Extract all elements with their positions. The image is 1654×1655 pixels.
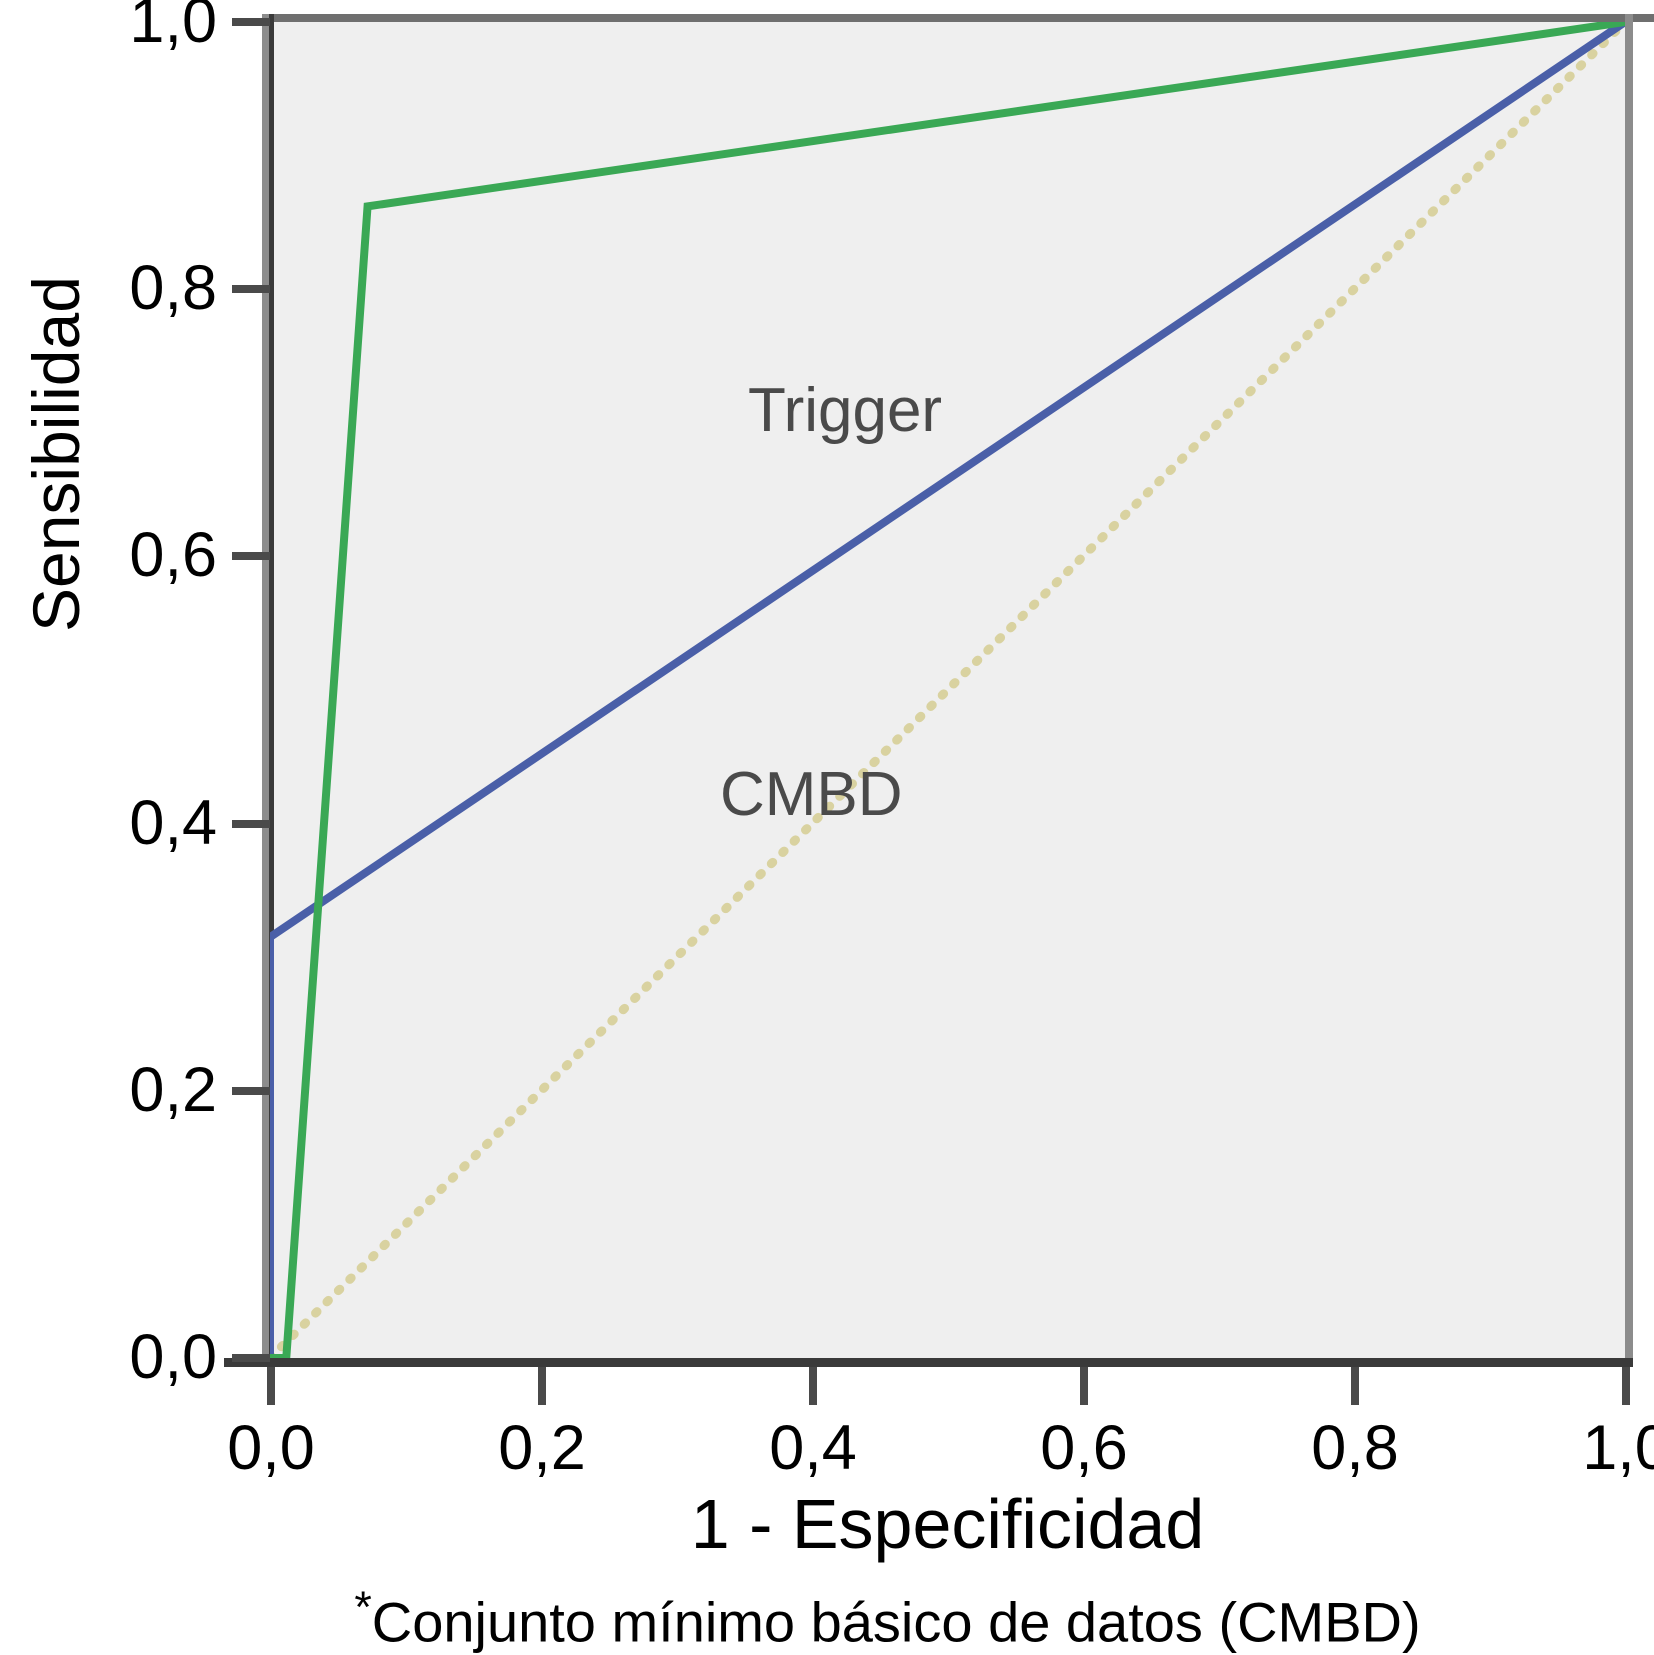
roc-curves bbox=[270, 22, 1625, 1358]
x-tick-0-8 bbox=[1351, 1367, 1359, 1405]
curve-label-trigger: Trigger bbox=[748, 380, 942, 442]
y-tick-label-1-0: 1,0 bbox=[0, 0, 217, 53]
y-axis-title: Sensibilidad bbox=[18, 276, 94, 632]
x-tick-label-1-0: 1,0 bbox=[1516, 1417, 1654, 1480]
y-tick-1-0 bbox=[232, 18, 270, 26]
y-tick-0-0 bbox=[232, 1354, 270, 1362]
x-tick-0-6 bbox=[1080, 1367, 1088, 1405]
x-tick-label-0-2: 0,2 bbox=[432, 1417, 652, 1480]
plot-area: 1,0 0,8 0,6 0,4 0,2 0,0 0,0 0,2 0,4 0,6 … bbox=[270, 22, 1625, 1358]
figure-footnote: *Conjunto mínimo básico de datos (CMBD) bbox=[210, 1582, 1565, 1655]
x-tick-label-0-6: 0,6 bbox=[974, 1417, 1194, 1480]
roc-series-linea-de-referencia bbox=[270, 22, 1625, 1358]
y-tick-0-4 bbox=[232, 820, 270, 828]
y-tick-label-0-4: 0,4 bbox=[0, 792, 217, 855]
y-tick-0-8 bbox=[232, 285, 270, 293]
x-tick-label-0-8: 0,8 bbox=[1245, 1417, 1465, 1480]
roc-chart-figure: 1,0 0,8 0,6 0,4 0,2 0,0 0,0 0,2 0,4 0,6 … bbox=[0, 0, 1654, 1642]
x-tick-0-4 bbox=[809, 1367, 817, 1405]
y-tick-0-6 bbox=[232, 552, 270, 560]
axis-top-border bbox=[262, 14, 1654, 22]
x-axis-title: 1 - Especificidad bbox=[270, 1484, 1625, 1564]
x-tick-label-0-4: 0,4 bbox=[703, 1417, 923, 1480]
axis-right-border bbox=[1625, 14, 1633, 1366]
y-tick-label-0-2: 0,2 bbox=[0, 1059, 217, 1122]
y-tick-label-0-0: 0,0 bbox=[0, 1326, 217, 1389]
x-tick-1-0 bbox=[1622, 1367, 1630, 1405]
x-tick-label-0-0: 0,0 bbox=[161, 1417, 381, 1480]
y-tick-0-2 bbox=[232, 1087, 270, 1095]
x-tick-0-2 bbox=[538, 1367, 546, 1405]
x-tick-0-0 bbox=[267, 1367, 275, 1405]
footnote-marker: * bbox=[354, 1582, 371, 1632]
footnote-text: Conjunto mínimo básico de datos (CMBD) bbox=[372, 1591, 1421, 1654]
x-axis-line bbox=[224, 1358, 1633, 1367]
curve-label-cmbd: CMBD bbox=[720, 764, 903, 826]
